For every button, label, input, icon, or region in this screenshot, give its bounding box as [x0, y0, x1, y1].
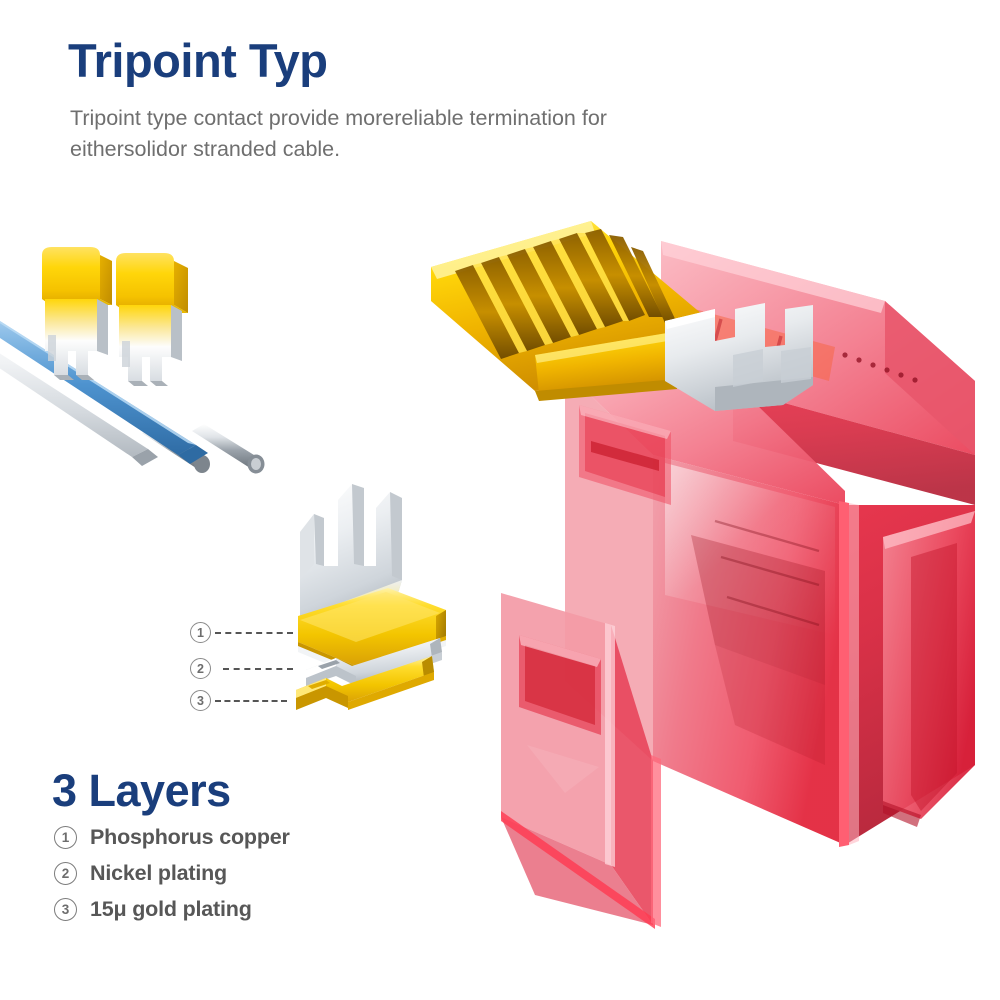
callout-3: 3	[190, 690, 287, 711]
layer-label-1: Phosphorus copper	[90, 825, 290, 850]
layer-number-1: 1	[54, 826, 77, 849]
list-item: 2 Nickel plating	[54, 861, 452, 886]
idc-contact-1	[42, 247, 112, 380]
infographic-page: Tripoint Typ Tripoint type contact provi…	[0, 0, 1000, 1000]
layer-number-2: 2	[54, 862, 77, 885]
callout-2: 2	[190, 658, 293, 679]
three-layers-title: 3 Layers	[52, 768, 452, 813]
layer-number-3: 3	[54, 898, 77, 921]
header-block: Tripoint Typ Tripoint type contact provi…	[68, 36, 928, 164]
subtitle-line-1: Tripoint type contact provide morereliab…	[70, 103, 870, 134]
callout-number-2: 2	[190, 658, 211, 679]
connector-latch-tab	[883, 511, 975, 827]
callout-leader-line-3	[215, 700, 287, 702]
page-title: Tripoint Typ	[68, 36, 928, 85]
wire-contact-illustration	[0, 225, 312, 465]
list-item: 3 15μ gold plating	[54, 897, 452, 922]
idc-contact-2	[116, 253, 188, 386]
page-subtitle: Tripoint type contact provide morereliab…	[70, 103, 870, 164]
layer-label-2: Nickel plating	[90, 861, 227, 886]
callout-number-1: 1	[190, 622, 211, 643]
rj45-connector-illustration	[415, 205, 1000, 965]
subtitle-line-2: eithersolidor stranded cable.	[70, 134, 870, 165]
callout-leader-line-2	[223, 668, 293, 670]
callout-leader-line-1	[215, 632, 293, 634]
three-layers-block: 3 Layers 1 Phosphorus copper 2 Nickel pl…	[52, 768, 452, 933]
connector-front-edge-highlight	[651, 755, 661, 927]
callout-1: 1	[190, 622, 293, 643]
layer-label-3: 15μ gold plating	[90, 897, 252, 922]
callout-number-3: 3	[190, 690, 211, 711]
list-item: 1 Phosphorus copper	[54, 825, 452, 850]
